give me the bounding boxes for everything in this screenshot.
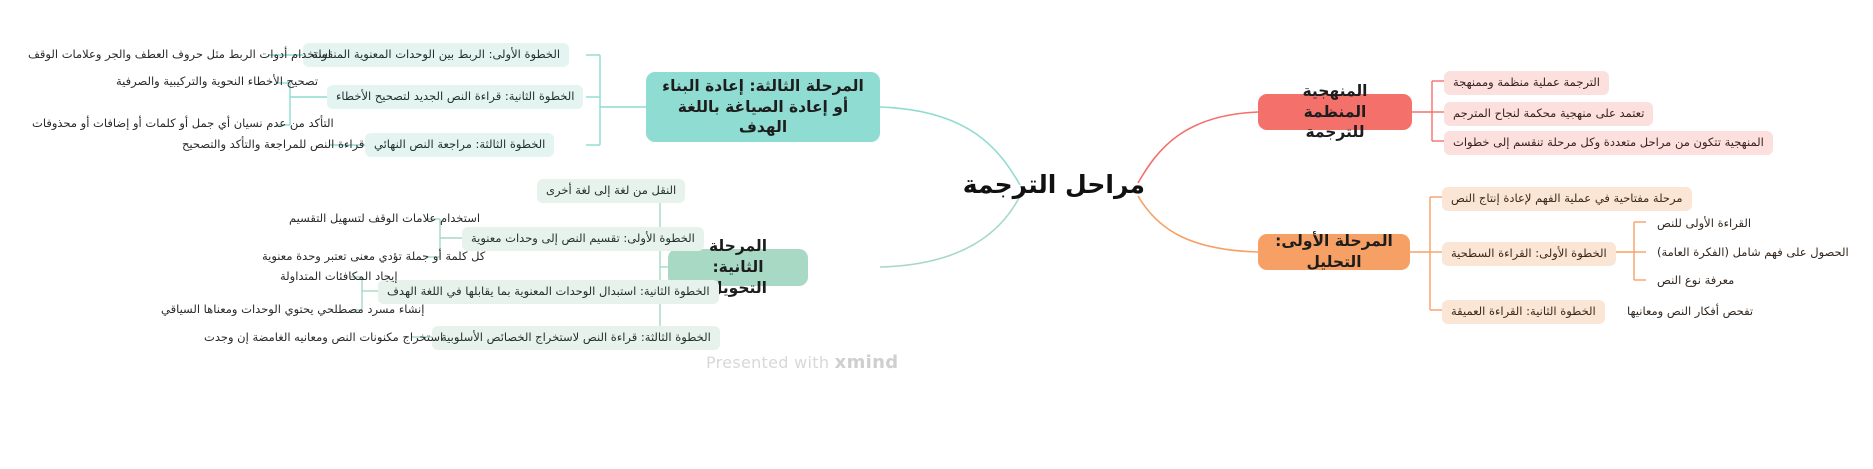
sub-topic-stage1-step1[interactable]: الخطوة الأولى: القراءة السطحية bbox=[1442, 242, 1616, 266]
sub-topic-stage2-step1[interactable]: الخطوة الأولى: تقسيم النص إلى وحدات معنو… bbox=[462, 227, 704, 251]
leaf-topic-stage2-step2-0[interactable]: إيجاد المكافئات المتداولة bbox=[276, 266, 402, 288]
watermark-prefix: Presented with bbox=[706, 353, 829, 372]
sub-topic-stage3-step1[interactable]: الخطوة الأولى: الربط بين الوحدات المعنوي… bbox=[303, 43, 569, 67]
leaf-topic-stage2-step3-0[interactable]: استخراج مكنونات النص ومعانيه الغامضة إن … bbox=[200, 327, 447, 349]
leaf-topic-stage3-step3-0[interactable]: قراءة النص للمراجعة والتأكد والتصحيح bbox=[178, 134, 368, 156]
mindmap-canvas[interactable]: مراحل الترجمة المرحلة الثالثة: إعادة الب… bbox=[0, 0, 1873, 469]
leaf-topic-stage2-step1-1[interactable]: كل كلمة أو جملة تؤدي معنى تعتبر وحدة معن… bbox=[258, 246, 489, 268]
sub-topic-stage2-child0[interactable]: النقل من لغة إلى لغة أخرى bbox=[537, 179, 685, 203]
leaf-topic-stage3-step1-0[interactable]: استخدام أدوات الربط مثل حروف العطف والجر… bbox=[24, 44, 335, 66]
sub-topic-stage1-child0[interactable]: مرحلة مفتاحية في عملية الفهم لإعادة إنتا… bbox=[1442, 187, 1692, 211]
xmind-watermark: Presented with xmind bbox=[706, 352, 900, 373]
leaf-topic-stage3-step2-1[interactable]: التأكد من عدم نسيان أي جمل أو كلمات أو إ… bbox=[28, 113, 338, 135]
leaf-topic-stage2-step1-0[interactable]: استخدام علامات الوقف لتسهيل التقسيم bbox=[285, 208, 484, 230]
sub-topic-methodology-0[interactable]: الترجمة عملية منظمة وممنهجة bbox=[1444, 71, 1609, 95]
main-topic-methodology[interactable]: المنهجية المنظمة للترجمة bbox=[1258, 94, 1412, 130]
sub-topic-stage3-step2[interactable]: الخطوة الثانية: قراءة النص الجديد لتصحيح… bbox=[327, 85, 583, 109]
main-topic-stage1[interactable]: المرحلة الأولى: التحليل bbox=[1258, 234, 1410, 270]
watermark-brand: xmind bbox=[835, 352, 899, 373]
sub-topic-methodology-2[interactable]: المنهجية تتكون من مراحل متعددة وكل مرحلة… bbox=[1444, 131, 1773, 155]
leaf-topic-stage3-step2-0[interactable]: تصحيح الأخطاء النحوية والتركيبية والصرفي… bbox=[112, 71, 322, 93]
sub-topic-stage2-step3[interactable]: الخطوة الثالثة: قراءة النص لاستخراج الخص… bbox=[432, 326, 720, 350]
sub-topic-stage3-step3[interactable]: الخطوة الثالثة: مراجعة النص النهائي bbox=[365, 133, 554, 157]
main-topic-stage3[interactable]: المرحلة الثالثة: إعادة البناء أو إعادة ا… bbox=[646, 72, 880, 142]
sub-topic-stage2-step2[interactable]: الخطوة الثانية: استبدال الوحدات المعنوية… bbox=[378, 280, 719, 304]
leaf-topic-stage2-step2-1[interactable]: إنشاء مسرد مصطلحي يحتوي الوحدات ومعناها … bbox=[157, 299, 428, 321]
leaf-topic-stage1-step1-0[interactable]: القراءة الأولى للنص bbox=[1653, 213, 1755, 235]
leaf-topic-stage1-step1-1[interactable]: الحصول على فهم شامل (الفكرة العامة) bbox=[1653, 242, 1853, 264]
leaf-topic-stage1-step1-2[interactable]: معرفة نوع النص bbox=[1653, 270, 1738, 292]
central-topic[interactable]: مراحل الترجمة bbox=[1015, 168, 1145, 202]
sub-topic-stage1-step2[interactable]: الخطوة الثانية: القراءة العميقة bbox=[1442, 300, 1605, 324]
leaf-topic-stage1-step2-0[interactable]: تفحص أفكار النص ومعانيها bbox=[1623, 301, 1757, 323]
sub-topic-methodology-1[interactable]: تعتمد على منهجية محكمة لنجاح المترجم bbox=[1444, 102, 1653, 126]
